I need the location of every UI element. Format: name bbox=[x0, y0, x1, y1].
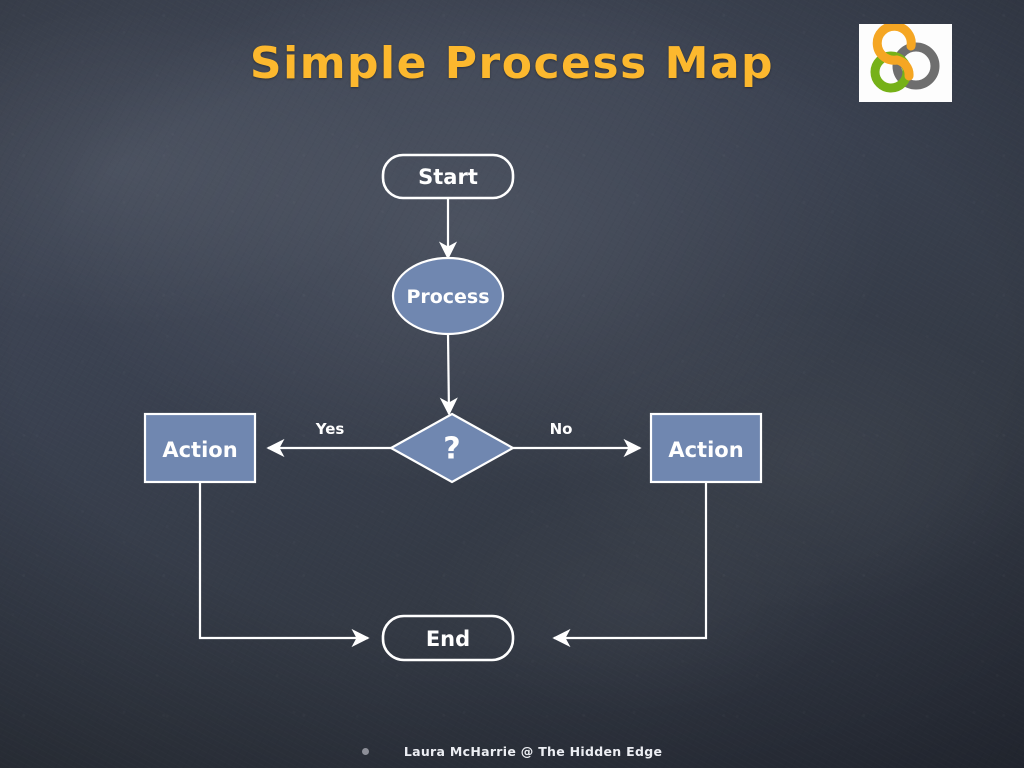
process-flowchart: Start Process ? Action Action End Yes bbox=[0, 0, 1024, 768]
footer-bullet-icon bbox=[362, 748, 369, 755]
footer-credit: Laura McHarrie @ The Hidden Edge bbox=[404, 744, 662, 759]
interlocking-rings-logo bbox=[859, 24, 952, 102]
node-process-label: Process bbox=[406, 286, 489, 308]
slide-canvas: Simple Process Map Start bbox=[0, 0, 1024, 768]
node-end-label: End bbox=[426, 627, 470, 651]
footer: Laura McHarrie @ The Hidden Edge bbox=[0, 741, 1024, 760]
node-action-right-label: Action bbox=[668, 438, 743, 462]
edge-action-left-to-end bbox=[200, 482, 368, 638]
node-end[interactable]: End bbox=[383, 616, 513, 660]
node-decision-label: ? bbox=[443, 432, 460, 467]
node-action-left[interactable]: Action bbox=[145, 414, 255, 482]
node-action-right[interactable]: Action bbox=[651, 414, 761, 482]
edge-process-to-decision bbox=[448, 334, 449, 414]
node-decision[interactable]: ? bbox=[391, 414, 513, 482]
edge-label-no: No bbox=[550, 420, 573, 438]
node-start-label: Start bbox=[418, 165, 478, 189]
node-action-left-label: Action bbox=[162, 438, 237, 462]
node-start[interactable]: Start bbox=[383, 155, 513, 198]
edge-label-yes: Yes bbox=[315, 420, 345, 438]
node-process[interactable]: Process bbox=[393, 258, 503, 334]
edge-action-right-to-end bbox=[554, 482, 706, 638]
